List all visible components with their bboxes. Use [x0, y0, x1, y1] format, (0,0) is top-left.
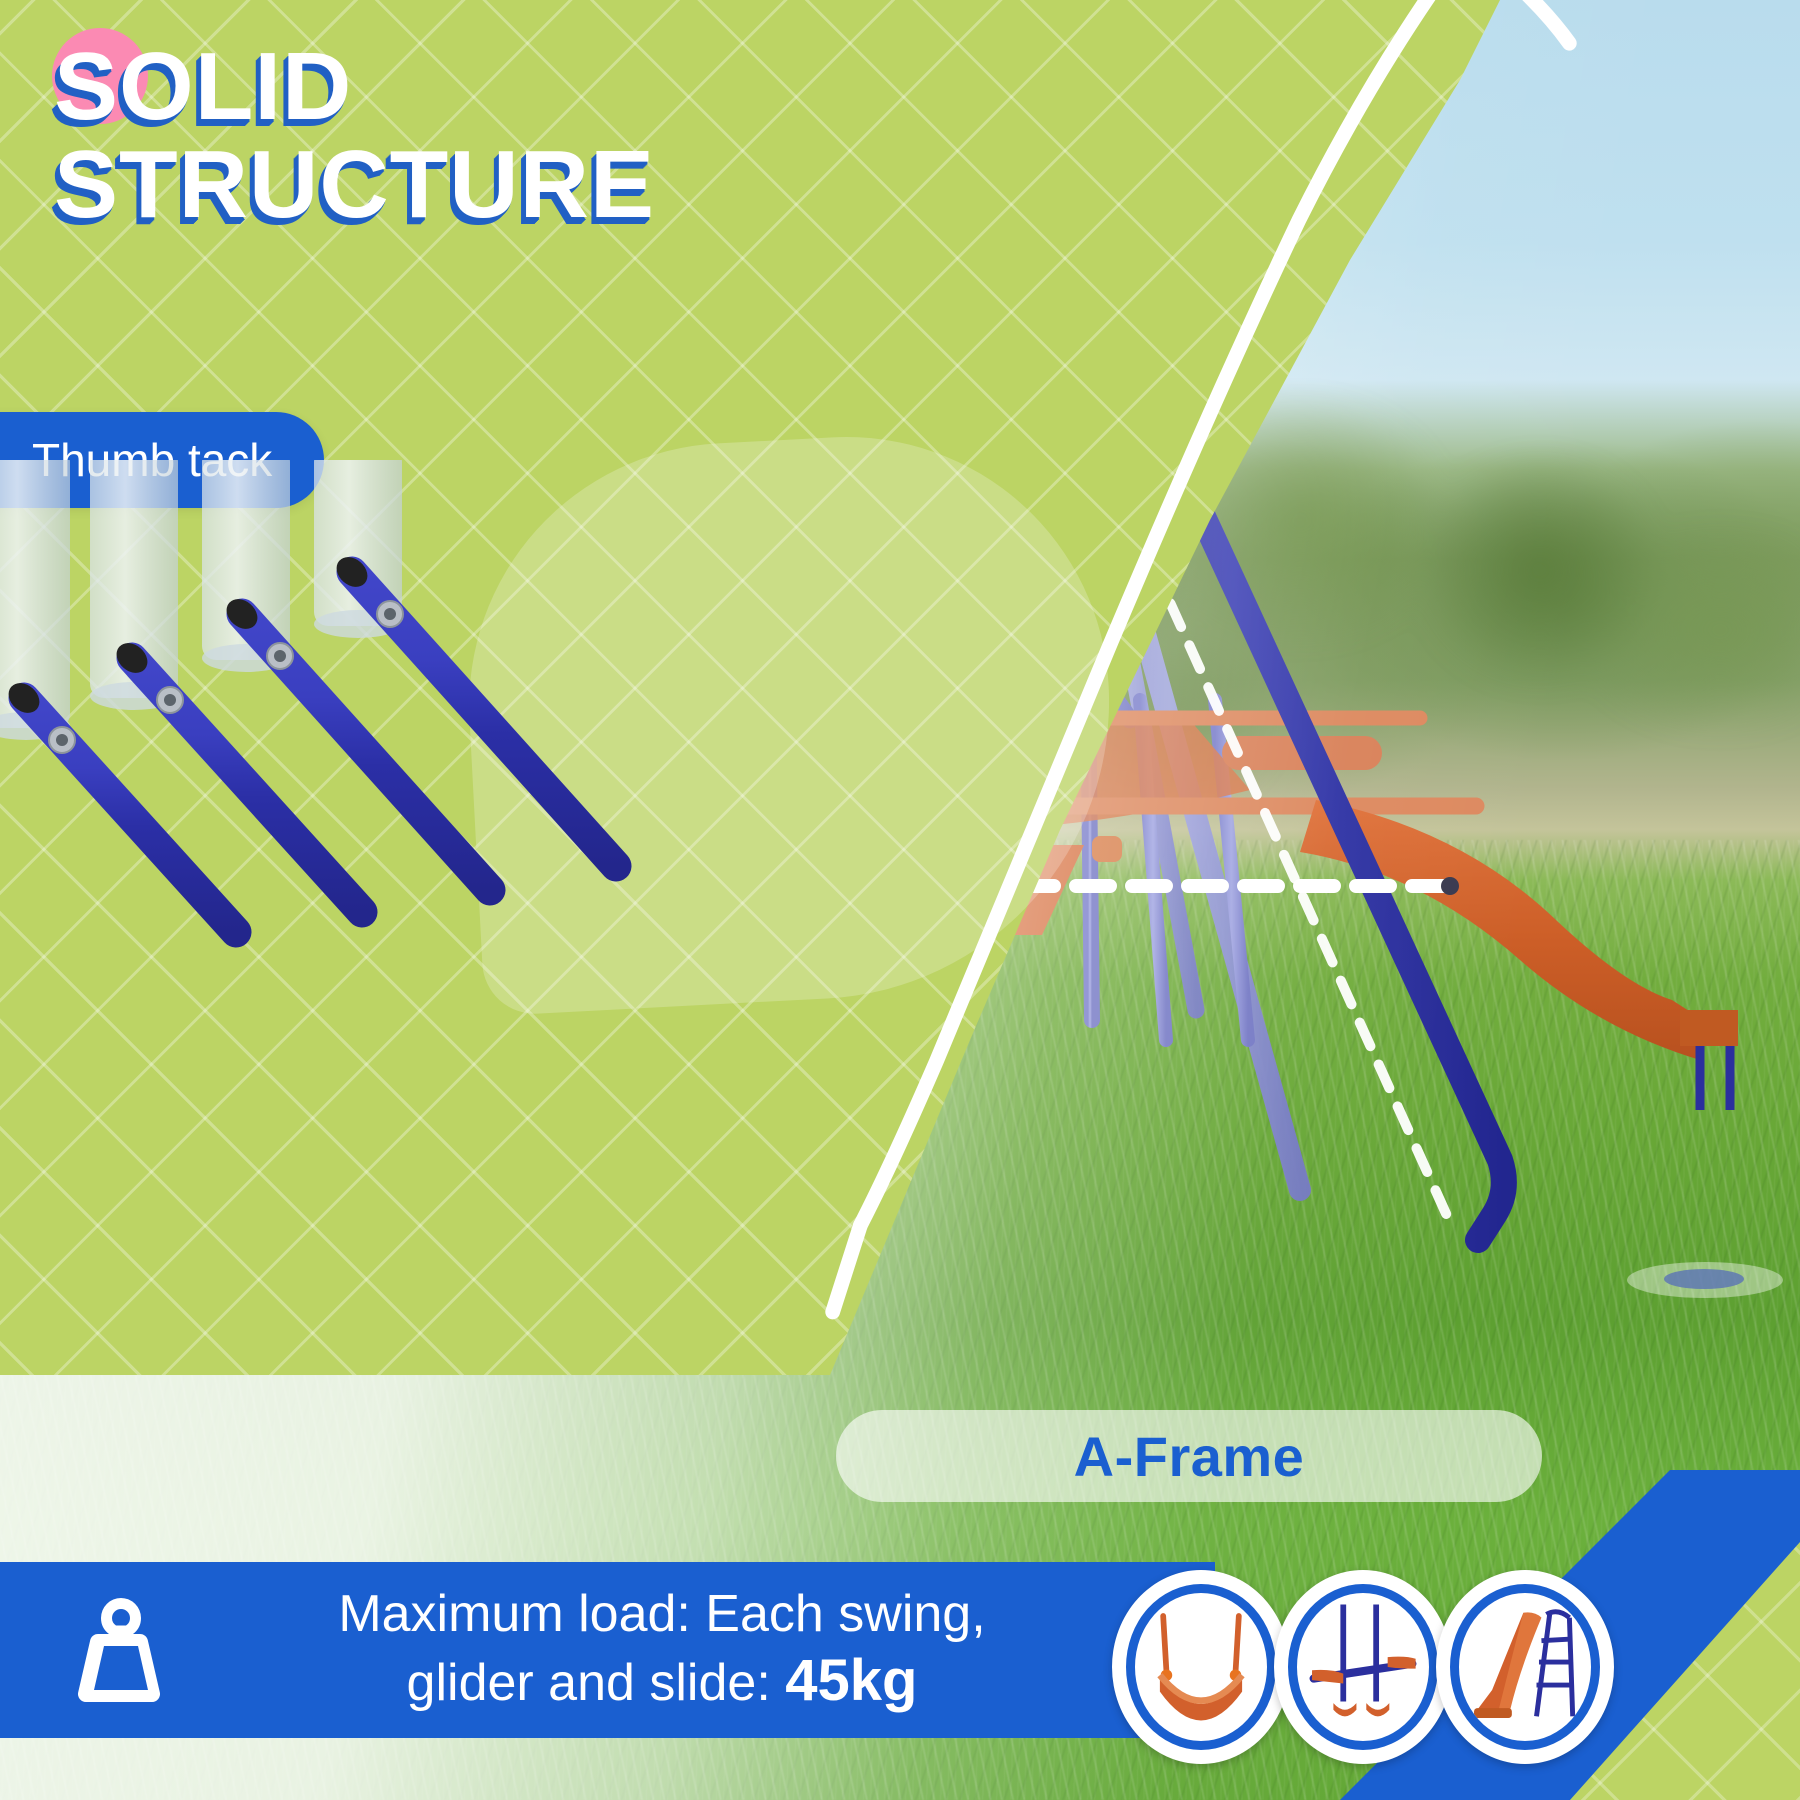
a-frame-label: A-Frame — [1074, 1424, 1305, 1489]
badge-ring — [1450, 1584, 1600, 1750]
title-line-2: STRUCTURE — [54, 136, 1004, 234]
badge-ring — [1126, 1584, 1276, 1750]
weight-icon — [62, 1588, 180, 1712]
infographic-canvas: SOLID STRUCTURE Thumb tack — [0, 0, 1800, 1800]
a-frame-callout-badge[interactable]: A-Frame — [836, 1410, 1542, 1502]
swing-seat-badge[interactable] — [1112, 1570, 1290, 1764]
feature-badge-group — [1128, 1570, 1614, 1764]
thumb-tack-pin-illustration — [0, 460, 760, 980]
swing-seat-icon — [1135, 1593, 1267, 1741]
slide-legs — [1700, 1046, 1730, 1110]
translucent-sleeves — [0, 460, 402, 740]
slide-icon — [1459, 1593, 1591, 1741]
slide-badge[interactable] — [1436, 1570, 1614, 1764]
max-load-banner: Maximum load: Each swing, glider and sli… — [0, 1562, 1215, 1738]
slide-exit-lip — [1680, 1010, 1738, 1046]
glider-badge[interactable] — [1274, 1570, 1452, 1764]
glider-icon — [1297, 1593, 1429, 1741]
tack-pin-4 — [331, 551, 616, 866]
anchor-disc-right — [1664, 1269, 1744, 1289]
title-line-1: SOLID — [54, 33, 352, 140]
page-title: SOLID STRUCTURE — [54, 38, 1004, 234]
rope-clamp-right — [1092, 836, 1122, 862]
badge-ring — [1288, 1584, 1438, 1750]
max-load-line-1: Maximum load: Each swing, — [338, 1585, 985, 1643]
max-load-value: 45kg — [785, 1648, 917, 1713]
max-load-text: Maximum load: Each swing, glider and sli… — [222, 1583, 1102, 1717]
bolt-right — [1441, 877, 1459, 895]
tack-pin-2 — [111, 637, 362, 912]
max-load-line-2-prefix: glider and slide: — [407, 1654, 786, 1712]
